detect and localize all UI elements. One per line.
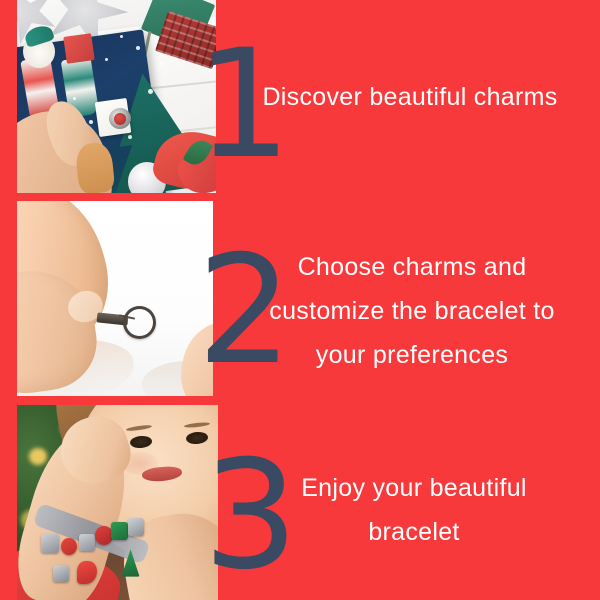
caption-line: customize the bracelet to [232, 289, 592, 333]
step-3-caption: Enjoy your beautiful bracelet [236, 466, 592, 554]
infographic-canvas: 1 Discover beautiful charms 2 Choose cha… [0, 0, 600, 600]
step-1-photo [17, 0, 216, 193]
caption-line: bracelet [236, 510, 592, 554]
caption-line: Enjoy your beautiful [236, 466, 592, 510]
step-1-caption: Discover beautiful charms [232, 82, 588, 112]
caption-line: Discover beautiful charms [232, 82, 588, 112]
step-2-photo [17, 201, 213, 396]
caption-line: Choose charms and [232, 245, 592, 289]
caption-line: your preferences [232, 333, 592, 377]
step-3-photo [17, 405, 218, 600]
step-2-caption: Choose charms and customize the bracelet… [232, 245, 592, 377]
